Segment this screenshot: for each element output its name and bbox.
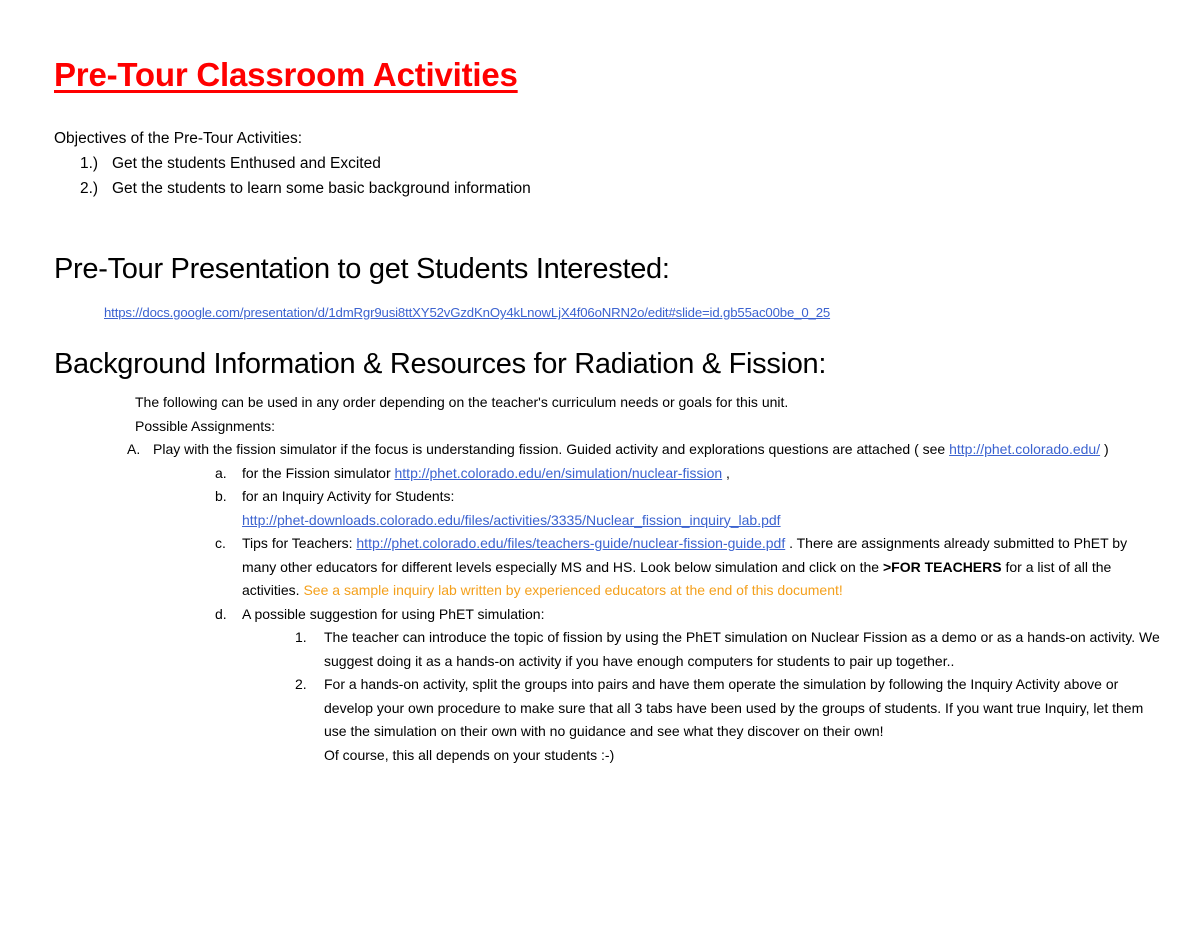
list-marker: 1. [295, 626, 307, 650]
list-item-step-1: 1. The teacher can introduce the topic o… [295, 626, 1163, 673]
document-page: Pre-Tour Classroom Activities Objectives… [0, 0, 1200, 927]
list-marker: 1.) [80, 151, 106, 176]
list-marker: c. [215, 532, 226, 556]
presentation-link[interactable]: https://docs.google.com/presentation/d/1… [104, 305, 830, 320]
list-item-fission-simulator: a. for the Fission simulator http://phet… [215, 462, 1163, 486]
resources-sublist: a. for the Fission simulator http://phet… [153, 462, 1163, 768]
sub-a-text-part-2: , [722, 465, 730, 481]
objectives-section: Objectives of the Pre-Tour Activities: 1… [54, 126, 531, 201]
list-marker: a. [215, 462, 227, 486]
step-1-text: The teacher can introduce the topic of f… [324, 629, 1160, 669]
background-body: The following can be used in any order d… [0, 391, 1200, 767]
background-lead-line-2: Possible Assignments: [135, 415, 1200, 439]
step-2-closing-text: Of course, this all depends on your stud… [324, 744, 1163, 768]
item-a-text-part-2: ) [1100, 441, 1109, 457]
list-item-text: Get the students Enthused and Excited [112, 151, 381, 176]
for-teachers-label: >FOR TEACHERS [883, 559, 1002, 575]
sample-inquiry-lab-note: See a sample inquiry lab written by expe… [303, 582, 842, 598]
step-2-text: For a hands-on activity, split the group… [324, 676, 1143, 739]
objectives-list: 1.) Get the students Enthused and Excite… [54, 151, 531, 201]
list-item-step-2: 2. For a hands-on activity, split the gr… [295, 673, 1163, 767]
list-marker: 2.) [80, 176, 106, 201]
list-marker: b. [215, 485, 227, 509]
background-lead-line-1: The following can be used in any order d… [135, 391, 1200, 415]
list-marker: A. [127, 438, 140, 462]
teachers-guide-pdf-link[interactable]: http://phet.colorado.edu/files/teachers-… [356, 535, 785, 551]
sub-b-text-part-1: for an Inquiry Activity for Students: [242, 488, 454, 504]
list-item: 1.) Get the students Enthused and Excite… [80, 151, 531, 176]
list-item-inquiry-activity: b. for an Inquiry Activity for Students:… [215, 485, 1163, 532]
list-item-tips-for-teachers: c. Tips for Teachers: http://phet.colora… [215, 532, 1163, 603]
sub-c-text-part-1: Tips for Teachers: [242, 535, 356, 551]
item-a-text-part-1: Play with the fission simulator if the f… [153, 441, 949, 457]
page-title: Pre-Tour Classroom Activities [54, 56, 518, 94]
suggestion-steps-list: 1. The teacher can introduce the topic o… [242, 626, 1163, 767]
list-marker: d. [215, 603, 227, 627]
list-item-possible-suggestion: d. A possible suggestion for using PhET … [215, 603, 1163, 768]
list-item-a: A. Play with the fission simulator if th… [127, 438, 1163, 767]
inquiry-lab-pdf-link[interactable]: http://phet-downloads.colorado.edu/files… [242, 512, 781, 528]
list-item: 2.) Get the students to learn some basic… [80, 176, 531, 201]
objectives-heading: Objectives of the Pre-Tour Activities: [54, 126, 531, 151]
background-heading: Background Information & Resources for R… [54, 348, 826, 381]
phet-home-link[interactable]: http://phet.colorado.edu/ [949, 441, 1100, 457]
sub-a-text-part-1: for the Fission simulator [242, 465, 395, 481]
assignments-list: A. Play with the fission simulator if th… [0, 438, 1200, 767]
presentation-heading: Pre-Tour Presentation to get Students In… [54, 253, 670, 286]
list-item-text: Get the students to learn some basic bac… [112, 176, 531, 201]
sub-d-text: A possible suggestion for using PhET sim… [242, 606, 544, 622]
fission-simulator-link[interactable]: http://phet.colorado.edu/en/simulation/n… [395, 465, 723, 481]
list-marker: 2. [295, 673, 307, 697]
